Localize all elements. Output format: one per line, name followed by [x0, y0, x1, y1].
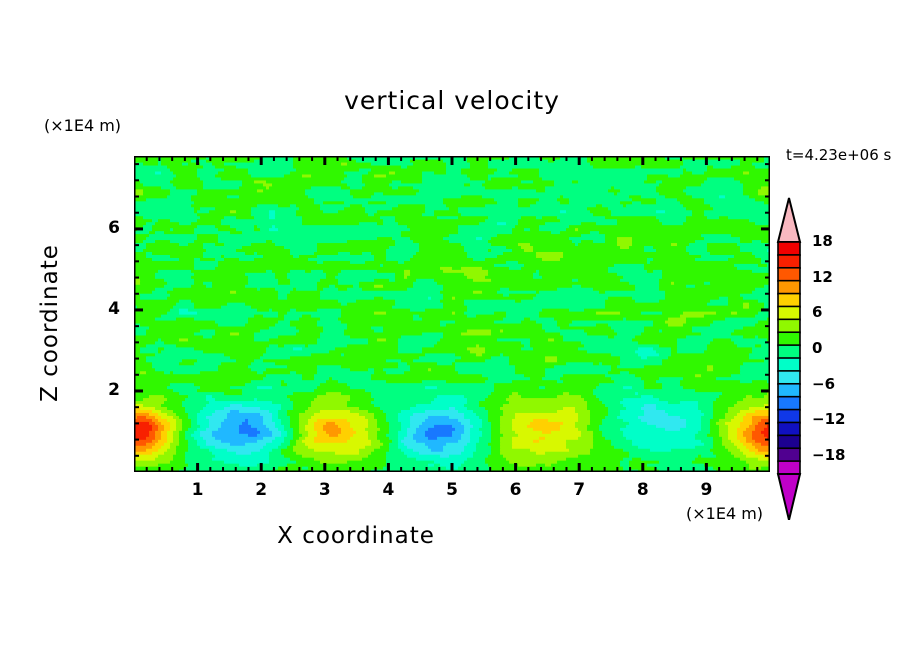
- y-tick-label: 2: [90, 380, 120, 400]
- contour-plot: [134, 156, 770, 472]
- chart-title: vertical velocity: [0, 86, 904, 115]
- x-axis-unit-label: (×1E4 m): [686, 504, 763, 523]
- y-axis-title: Z coordinate: [37, 213, 63, 433]
- colorbar-tick-label: −12: [812, 410, 845, 428]
- colorbar-tick-label: 0: [812, 339, 822, 357]
- colorbar-tick-label: −6: [812, 375, 835, 393]
- y-tick-label: 6: [90, 218, 120, 238]
- y-axis-unit-label: (×1E4 m): [44, 116, 121, 135]
- x-tick-label: 8: [623, 480, 663, 500]
- x-axis-title: X coordinate: [0, 523, 712, 549]
- x-tick-label: 6: [496, 480, 536, 500]
- colorbar-tick-label: 12: [812, 268, 833, 286]
- timestamp-label: t=4.23e+06 s: [786, 146, 891, 164]
- x-tick-label: 7: [559, 480, 599, 500]
- y-tick-label: 4: [90, 299, 120, 319]
- x-tick-label: 5: [432, 480, 472, 500]
- colorbar-tick-label: 6: [812, 303, 822, 321]
- colorbar-tick-label: 18: [812, 232, 833, 250]
- x-tick-label: 2: [241, 480, 281, 500]
- x-tick-label: 9: [686, 480, 726, 500]
- x-tick-label: 4: [368, 480, 408, 500]
- colorbar-tick-label: −18: [812, 446, 845, 464]
- colorbar: [776, 196, 806, 520]
- x-tick-label: 1: [178, 480, 218, 500]
- x-tick-label: 3: [305, 480, 345, 500]
